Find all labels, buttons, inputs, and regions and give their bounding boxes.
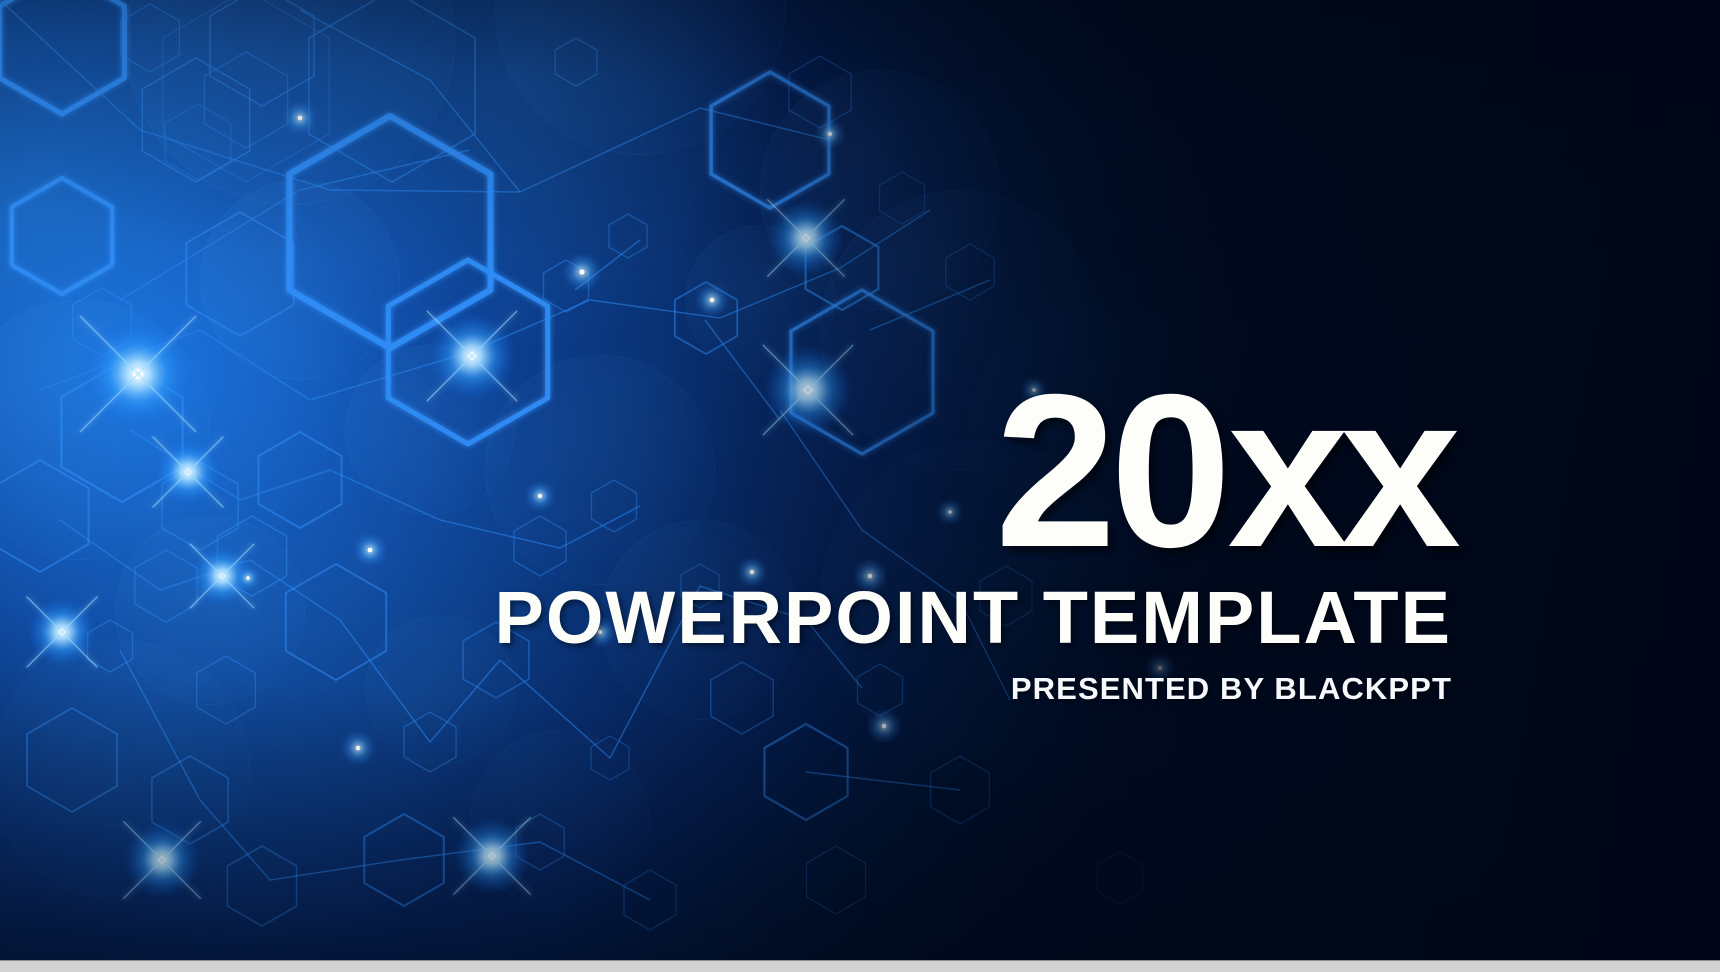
title-slide: 20xx POWERPOINT TEMPLATE PRESENTED BY BL… xyxy=(0,0,1720,972)
bottom-chrome-bar xyxy=(0,960,1720,972)
year-suffix: xx xyxy=(1228,350,1452,593)
page-title: POWERPOINT TEMPLATE xyxy=(472,581,1452,655)
year-prefix: 20 xyxy=(995,350,1225,593)
year-heading: 20xx xyxy=(472,372,1452,573)
presenter-line: PRESENTED BY BLACKPPT xyxy=(472,673,1452,704)
title-text-block: 20xx POWERPOINT TEMPLATE PRESENTED BY BL… xyxy=(472,372,1452,704)
